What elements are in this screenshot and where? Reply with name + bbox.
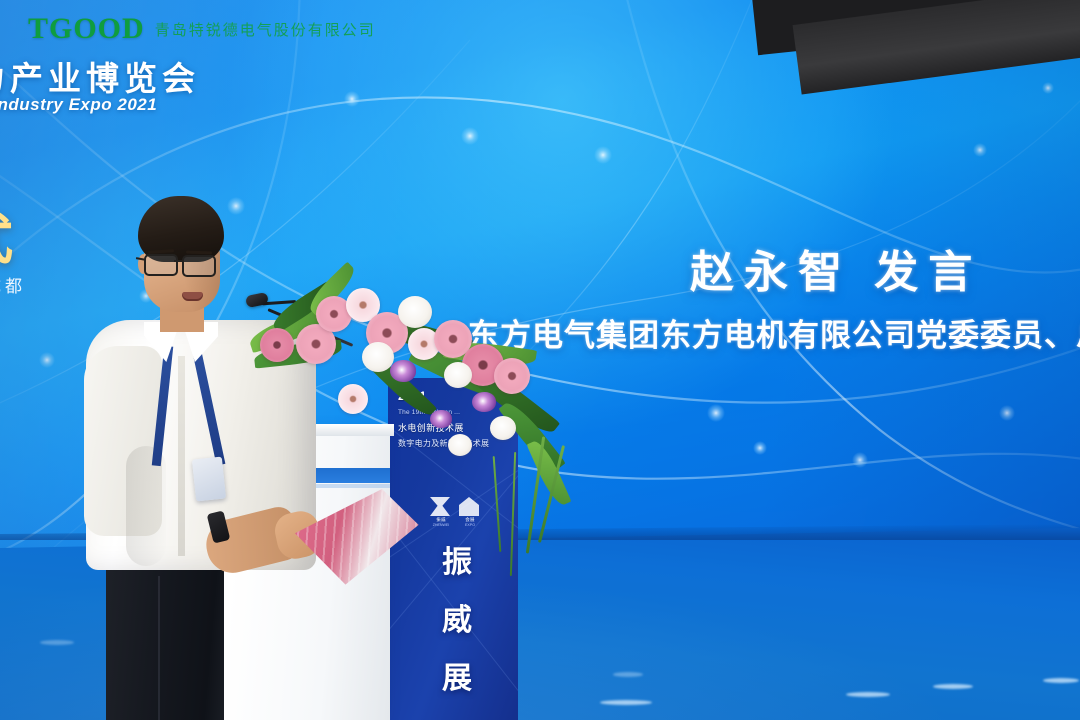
vertical-char-3: 展 <box>442 664 472 694</box>
hanging-strand <box>493 456 502 552</box>
floor-marker <box>933 684 973 689</box>
flower-icon <box>260 328 294 362</box>
flower-icon <box>398 296 432 328</box>
id-badge-icon <box>192 457 226 502</box>
hanging-strand <box>510 452 516 576</box>
flower-icon <box>490 416 516 440</box>
expo-title-en: er Industry Expo 2021 <box>0 95 157 115</box>
flower-icon <box>338 384 368 414</box>
vertical-char-2: 威 <box>442 606 472 636</box>
glasses-icon <box>142 254 226 274</box>
flower-arrangement <box>258 286 588 586</box>
orchid-icon <box>472 392 496 412</box>
speaker-trousers <box>106 558 224 720</box>
floor-marker <box>613 672 643 677</box>
flower-icon <box>448 434 472 456</box>
floor-marker <box>600 700 652 705</box>
flower-icon <box>362 342 394 372</box>
orchid-icon <box>390 360 416 382</box>
floor-marker <box>1043 678 1079 683</box>
orchid-icon <box>430 410 452 428</box>
city-label-cn: 成都 <box>0 272 26 297</box>
speaker-name-heading: 赵永智 发言 <box>690 236 982 300</box>
flower-icon <box>494 358 530 394</box>
watermark-company-name: 青岛特锐德电气股份有限公司 <box>155 19 376 40</box>
expo-title-cn: 力产业博览会 <box>0 52 200 100</box>
conference-photo-stage: TGOOD 青岛特锐德电气股份有限公司 力产业博览会 er Industry E… <box>0 0 1080 720</box>
watermark: TGOOD 青岛特锐德电气股份有限公司 <box>28 12 376 46</box>
flower-icon <box>444 362 472 388</box>
floor-marker <box>40 640 74 645</box>
floor-marker <box>846 692 890 697</box>
trouser-crease <box>158 576 160 720</box>
speaker-mouth <box>182 292 203 301</box>
shirt-placket <box>178 356 185 556</box>
ceremony-text-cn: 式 <box>0 198 13 274</box>
tgood-logo-text: TGOOD <box>28 12 145 46</box>
